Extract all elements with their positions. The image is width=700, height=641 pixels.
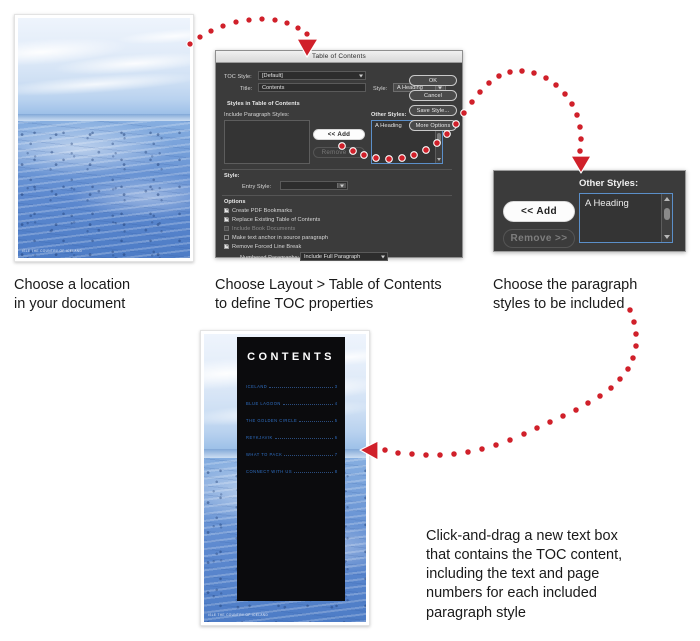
checkbox-disabled-icon [224,226,229,231]
include-paragraph-styles-label: Include Paragraph Styles: [224,112,289,118]
title-label: Title: [240,86,252,92]
toc-entry-page: 6 [335,435,337,440]
table-of-contents-dialog: Table of Contents TOC Style: [Default] T… [215,50,463,258]
toc-entry-page: 7 [335,452,337,457]
caption-step-1: Choose a location in your document [14,276,204,314]
toc-entry-text: REYKJAVIK [246,435,273,440]
iceland-landscape-photo-2: ISLE THE COUNTRY OF ICELAND CONTENTS ICE… [204,334,366,622]
iceland-landscape-photo: ISLE THE COUNTRY OF ICELAND [18,18,190,258]
toc-heading: CONTENTS [237,351,345,363]
option-label: Remove Forced Line Break [232,244,301,250]
toc-entry-row[interactable]: REYKJAVIK 6 [246,433,337,442]
toc-entry-text: ICELAND [246,384,267,389]
toc-entry-page: 8 [335,469,337,474]
toc-entry-row[interactable]: ICELAND 3 [246,382,337,391]
callout-remove-button[interactable]: Remove >> [503,229,575,248]
chevron-down-icon [381,255,385,258]
toc-entry-page: 5 [335,418,337,423]
more-options-button[interactable]: More Options [409,120,457,131]
section-divider [222,169,452,170]
toc-entry-page: 3 [335,384,337,389]
dialog-body: TOC Style: [Default] Title: Contents Sty… [216,63,462,258]
toc-text-box[interactable]: CONTENTS ICELAND 3 BLUE LAGOON 4 THE GOL… [237,337,345,601]
horizon-line [18,114,190,121]
other-styles-item[interactable]: A Heading [375,123,402,129]
photo-watermark: ISLE THE COUNTRY OF ICELAND [22,249,82,253]
toc-leader-dots [284,455,332,456]
step4-photo-frame: ISLE THE COUNTRY OF ICELAND CONTENTS ICE… [200,330,370,626]
scroll-down-icon[interactable] [437,158,441,161]
toc-entry-row[interactable]: BLUE LAGOON 4 [246,399,337,408]
toc-leader-dots [269,387,332,388]
title-value: Contents [262,85,284,91]
dotted-arrow-3-icon [360,307,639,460]
numbered-paragraphs-dropdown[interactable]: Include Full Paragraph [300,252,388,261]
title-input[interactable]: Contents [258,83,366,92]
scrollbar-thumb[interactable] [437,133,441,144]
option-label: Make text anchor in source paragraph [232,235,328,241]
add-style-button[interactable]: << Add [313,129,365,140]
cancel-button[interactable]: Cancel [409,90,457,101]
checkbox-checked-icon[interactable]: ✓ [224,208,229,213]
step1-photo-frame: ISLE THE COUNTRY OF ICELAND [14,14,194,262]
toc-entry-row[interactable]: THE GOLDEN CIRCLE 5 [246,416,337,425]
options-label: Options [224,199,245,205]
scroll-up-icon[interactable] [664,197,670,201]
toc-entry-text: CONNECT WITH US [246,469,292,474]
toc-entry-text: WHAT TO PACK [246,452,282,457]
dialog-title: Table of Contents [312,53,366,60]
scrollbar-thumb[interactable] [664,208,670,220]
callout-list-item[interactable]: A Heading [585,198,629,209]
dialog-title-bar: Table of Contents [216,51,462,63]
option-label: Replace Existing Table of Contents [232,217,320,223]
ok-button[interactable]: OK [409,75,457,86]
style-label: Style: [373,86,387,92]
toc-leader-dots [283,404,333,405]
remove-style-button[interactable]: Remove >> [313,147,365,158]
entry-style-dropdown[interactable] [280,181,348,190]
callout-add-button[interactable]: << Add [503,201,575,222]
checkbox-checked-icon[interactable]: ✓ [224,244,229,249]
toc-entry-text: THE GOLDEN CIRCLE [246,418,297,423]
other-styles-label: Other Styles: [371,112,406,118]
caption-step-4: Click-and-drag a new text box that conta… [426,527,694,623]
entry-style-label: Entry Style: [242,184,271,190]
scroll-down-icon[interactable] [664,235,670,239]
option-label: Create PDF Bookmarks [232,208,292,214]
caption-step-2: Choose Layout > Table of Contents to def… [215,276,485,314]
callout-other-styles-listbox[interactable]: A Heading [579,193,673,243]
styles-section-heading: Styles in Table of Contents [227,101,300,107]
callout-other-styles-label: Other Styles: [579,178,638,189]
numbered-paragraphs-value: Include Full Paragraph [304,254,360,260]
numbered-paragraphs-label: Numbered Paragraphs: [240,255,299,261]
toc-entry-page: 4 [335,401,337,406]
include-styles-listbox[interactable] [224,120,310,164]
toc-entry-text: BLUE LAGOON [246,401,281,406]
chevron-down-icon [340,184,344,187]
toc-style-dropdown[interactable]: [Default] [258,71,366,80]
checkbox-checked-icon[interactable]: ✓ [224,217,229,222]
caption-step-3: Choose the paragraph styles to be includ… [493,276,693,314]
chevron-down-icon [438,86,442,89]
save-style-button[interactable]: Save Style... [409,105,457,116]
chevron-down-icon [359,74,363,77]
option-label: Include Book Documents [232,226,295,232]
toc-style-value: [Default] [262,73,283,79]
toc-leader-dots [275,438,333,439]
photo-watermark: ISLE THE COUNTRY OF ICELAND [208,613,268,617]
callout-scrollbar[interactable] [661,194,672,242]
snow-texture [18,128,190,258]
style-group-label: Style: [224,173,240,179]
toc-entry-row[interactable]: CONNECT WITH US 8 [246,467,337,476]
cloud-layer [18,18,190,111]
toc-leader-dots [294,472,333,473]
options-divider [222,195,452,196]
toc-entry-row[interactable]: WHAT TO PACK 7 [246,450,337,459]
paragraph-styles-callout: Other Styles: A Heading << Add Remove >> [493,170,686,252]
toc-style-label: TOC Style: [224,74,252,80]
checkbox-unchecked-icon[interactable] [224,235,229,240]
toc-leader-dots [299,421,332,422]
